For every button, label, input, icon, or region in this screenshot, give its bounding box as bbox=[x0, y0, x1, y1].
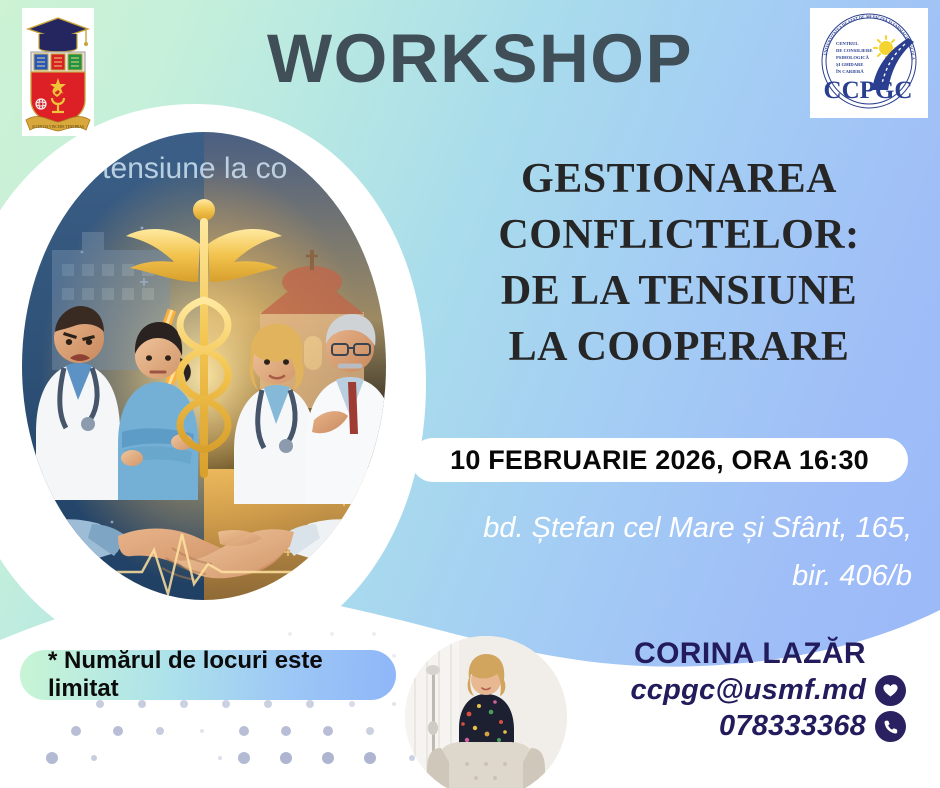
presenter-name: CORINA LAZĂR bbox=[526, 636, 906, 671]
svg-text:DE CONSILIERE: DE CONSILIERE bbox=[836, 48, 872, 53]
title-line-2: CONFLICTELOR: bbox=[430, 208, 928, 264]
ccpgc-logo: UNIVERSITATEA DE STAT DE MEDICINĂ ȘI FAR… bbox=[810, 8, 928, 118]
event-address: bd. Ștefan cel Mare și Sfânt, 165, bir. … bbox=[370, 505, 912, 601]
title-line-3: DE LA TENSIUNE bbox=[430, 264, 928, 320]
workshop-poster: SCIENTIA VINCERE TENEBRAS UNIVERSITATEA … bbox=[0, 0, 940, 788]
page-title: WORKSHOP bbox=[260, 24, 700, 93]
illustration-clip: tensiune la co bbox=[22, 132, 386, 600]
address-line-2: bir. 406/b bbox=[370, 553, 912, 601]
svg-text:CCPGC: CCPGC bbox=[824, 77, 913, 104]
svg-text:CENTRUL: CENTRUL bbox=[836, 41, 858, 46]
conflict-cooperation-illustration: tensiune la co bbox=[8, 116, 400, 616]
contact-email[interactable]: ccpgc@usmf.md bbox=[630, 674, 866, 707]
contact-block: CORINA LAZĂR ccpgc@usmf.md 078333368 bbox=[526, 636, 906, 743]
svg-text:ÎN CARIERĂ: ÎN CARIERĂ bbox=[836, 69, 864, 74]
phone-icon bbox=[875, 711, 906, 742]
title-line-1: GESTIONAREA bbox=[430, 152, 928, 208]
illustration-artwork bbox=[22, 132, 386, 600]
title-line-4: LA COOPERARE bbox=[430, 320, 928, 376]
svg-text:ȘI GHIDARE: ȘI GHIDARE bbox=[836, 62, 863, 67]
event-datetime-badge: 10 FEBRUARIE 2026, ORA 16:30 bbox=[411, 438, 908, 482]
illustration-overlay-text: tensiune la co bbox=[102, 152, 287, 186]
limited-seats-note: * Numărul de locuri este limitat bbox=[20, 650, 396, 700]
heart-icon bbox=[875, 675, 906, 706]
address-line-1: bd. Ștefan cel Mare și Sfânt, 165, bbox=[370, 505, 912, 553]
svg-text:PSIHOLOGICĂ: PSIHOLOGICĂ bbox=[836, 55, 870, 60]
contact-phone[interactable]: 078333368 bbox=[719, 710, 866, 743]
contact-email-row[interactable]: ccpgc@usmf.md bbox=[526, 674, 906, 707]
contact-phone-row[interactable]: 078333368 bbox=[526, 710, 906, 743]
workshop-subject-title: GESTIONAREA CONFLICTELOR: DE LA TENSIUNE… bbox=[430, 152, 928, 375]
